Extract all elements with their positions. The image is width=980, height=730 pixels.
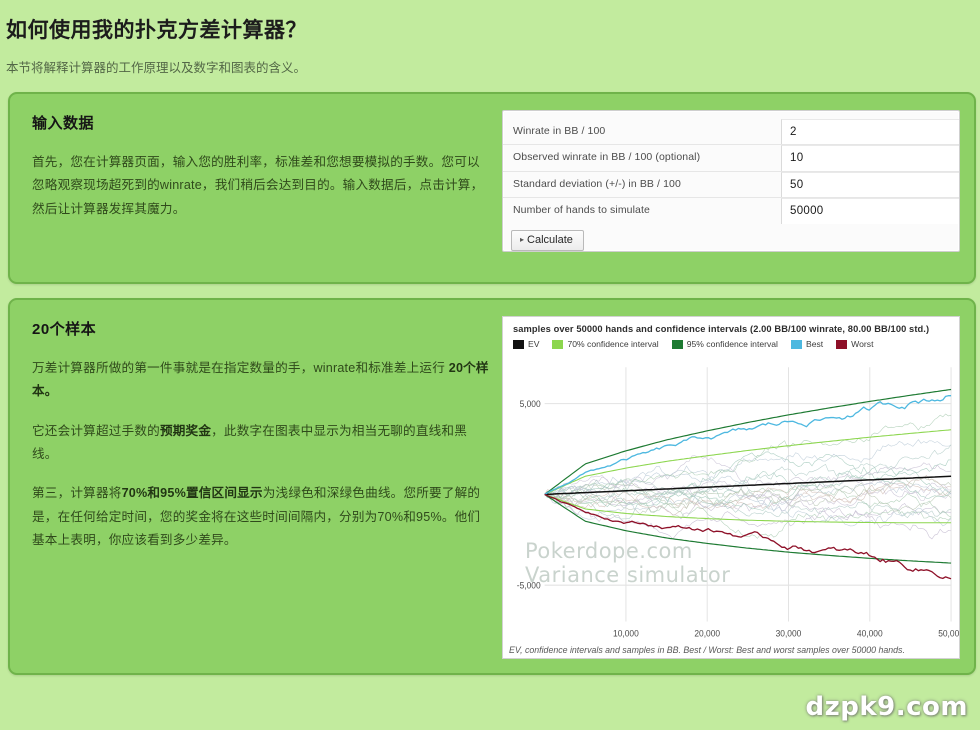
legend-item-worst: Worst — [836, 339, 873, 349]
form-row-hands: Number of hands to simulate 50000 — [503, 198, 959, 224]
input-data-paragraph: 首先，您在计算器页面，输入您的胜利率，标准差和您想要模拟的手数。您可以忽略观察现… — [32, 151, 492, 221]
y-tick-label: -5,000 — [517, 580, 541, 590]
samples-paragraph-3-emphasis: 70%和95%置信区间显示 — [122, 486, 263, 500]
variance-chart: samples over 50000 hands and confidence … — [502, 316, 960, 659]
calculate-button[interactable]: ▸Calculate — [511, 230, 584, 251]
chart-title: samples over 50000 hands and confidence … — [503, 317, 959, 334]
legend-swatch-best — [791, 340, 802, 349]
y-tick-label: 5,000 — [520, 399, 541, 409]
samples-paragraph-1: 万差计算器所做的第一件事就是在指定数量的手，winrate和标准差上运行 20个… — [32, 357, 492, 404]
x-tick-label: 40,000 — [857, 628, 883, 638]
play-triangle-icon: ▸ — [520, 235, 524, 244]
number-of-hands-label: Number of hands to simulate — [503, 198, 781, 224]
chart-column: samples over 50000 hands and confidence … — [502, 316, 960, 659]
x-tick-label: 10,000 — [613, 628, 639, 638]
page-title: 如何使用我的扑克方差计算器？ — [6, 18, 980, 43]
series-line-95-lower — [545, 495, 951, 564]
samples-paragraph-3-part-a: 第三，计算器将 — [32, 486, 122, 500]
samples-heading: 20个样本 — [32, 318, 492, 339]
chart-gridlines — [545, 367, 951, 621]
x-tick-label: 50,000 — [938, 628, 959, 638]
form-row-standard-deviation: Standard deviation (+/-) in BB / 100 50 — [503, 172, 959, 198]
legend-label-ci95: 95% confidence interval — [687, 339, 778, 349]
chart-series-group — [545, 390, 951, 579]
winrate-input[interactable]: 2 — [781, 119, 959, 144]
legend-label-ev: EV — [528, 339, 539, 349]
legend-swatch-ci95 — [672, 340, 683, 349]
chart-x-axis-ticks: 10,00020,00030,00040,00050,000 — [613, 628, 959, 638]
samples-text-column: 20个样本 万差计算器所做的第一件事就是在指定数量的手，winrate和标准差上… — [24, 316, 502, 659]
page-subtitle: 本节将解释计算器的工作原理以及数字和图表的含义。 — [6, 57, 980, 76]
input-data-heading: 输入数据 — [32, 112, 492, 133]
calculate-button-label: Calculate — [527, 234, 573, 246]
legend-swatch-ev — [513, 340, 524, 349]
legend-swatch-worst — [836, 340, 847, 349]
calculator-form-column: Winrate in BB / 100 2 Observed winrate i… — [502, 110, 960, 268]
samples-paragraph-2-emphasis: 预期奖金 — [160, 424, 211, 438]
chart-y-axis-ticks: 5,000-5,000 — [517, 399, 541, 591]
legend-item-ev: EV — [513, 339, 539, 349]
legend-label-best: Best — [806, 339, 823, 349]
winrate-label: Winrate in BB / 100 — [503, 119, 781, 144]
observed-winrate-input[interactable]: 10 — [781, 145, 959, 170]
standard-deviation-input[interactable]: 50 — [781, 172, 959, 197]
form-row-winrate: Winrate in BB / 100 2 — [503, 119, 959, 145]
chart-plot-area: 5,000-5,000 10,00020,00030,00040,00050,0… — [503, 363, 959, 658]
form-row-observed-winrate: Observed winrate in BB / 100 (optional) … — [503, 145, 959, 171]
input-data-text-column: 输入数据 首先，您在计算器页面，输入您的胜利率，标准差和您想要模拟的手数。您可以… — [24, 110, 502, 268]
legend-item-ci95: 95% confidence interval — [672, 339, 778, 349]
samples-paragraph-2: 它还会计算超过手数的预期奖金，此数字在图表中显示为相当无聊的直线和黑线。 — [32, 420, 492, 467]
chart-caption: EV, confidence intervals and samples in … — [509, 645, 905, 655]
chart-legend: EV 70% confidence interval 95% confidenc… — [503, 334, 959, 349]
sample-walk-line — [545, 495, 951, 540]
legend-item-best: Best — [791, 339, 823, 349]
sample-walk-line — [545, 445, 951, 498]
legend-label-ci70: 70% confidence interval — [567, 339, 658, 349]
x-tick-label: 30,000 — [776, 628, 802, 638]
standard-deviation-label: Standard deviation (+/-) in BB / 100 — [503, 172, 781, 197]
samples-paragraph-3: 第三，计算器将70%和95%置信区间显示为浅绿色和深绿色曲线。您所要了解的是，在… — [32, 482, 492, 552]
samples-paragraph-1-part-a: 万差计算器所做的第一件事就是在指定数量的手，winrate和标准差上运行 — [32, 361, 445, 375]
observed-winrate-label: Observed winrate in BB / 100 (optional) — [503, 145, 781, 170]
legend-swatch-ci70 — [552, 340, 563, 349]
legend-label-worst: Worst — [851, 339, 873, 349]
number-of-hands-input[interactable]: 50000 — [781, 198, 959, 224]
variance-calculator-form: Winrate in BB / 100 2 Observed winrate i… — [502, 110, 960, 252]
input-data-panel: 输入数据 首先，您在计算器页面，输入您的胜利率，标准差和您想要模拟的手数。您可以… — [8, 92, 976, 284]
samples-paragraph-2-part-a: 它还会计算超过手数的 — [32, 424, 160, 438]
page-header: 如何使用我的扑克方差计算器？ 本节将解释计算器的工作原理以及数字和图表的含义。 — [0, 0, 980, 76]
legend-item-ci70: 70% confidence interval — [552, 339, 658, 349]
x-tick-label: 20,000 — [694, 628, 720, 638]
site-watermark: dzpk9.com — [806, 692, 968, 722]
chart-plot-svg: 5,000-5,000 10,00020,00030,00040,00050,0… — [503, 363, 959, 658]
samples-panel: 20个样本 万差计算器所做的第一件事就是在指定数量的手，winrate和标准差上… — [8, 298, 976, 675]
